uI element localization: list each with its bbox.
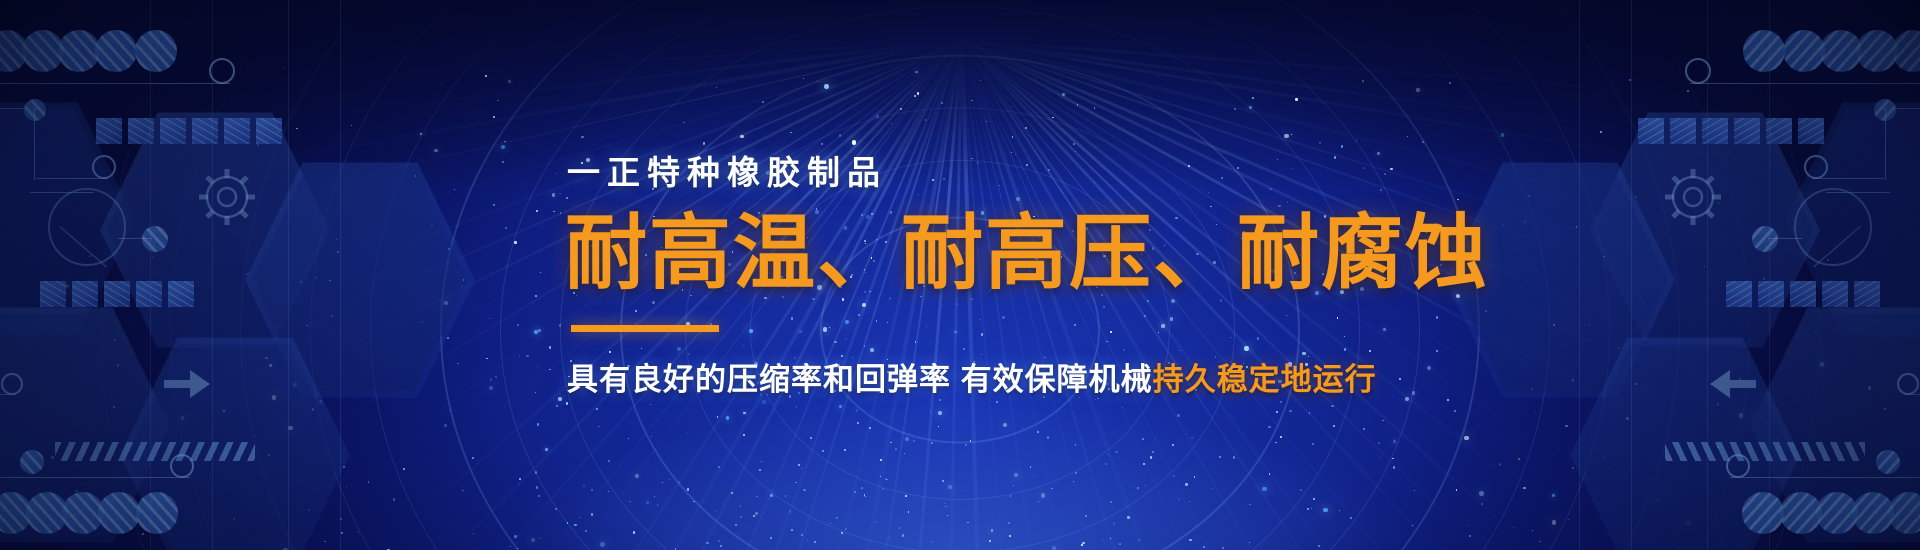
brand-tagline: 一正特种橡胶制品: [567, 156, 887, 189]
hero-copy-block: 一正特种橡胶制品 耐高温、耐高压、耐腐蚀 具有良好的压缩率和回弹率 有效保障机械…: [0, 0, 1920, 550]
subtitle-accent-part: 持久稳定地运行: [1153, 362, 1377, 397]
subtitle-white-part: 具有良好的压缩率和回弹率 有效保障机械: [567, 362, 1153, 397]
hero-banner: 一正特种橡胶制品 耐高温、耐高压、耐腐蚀 具有良好的压缩率和回弹率 有效保障机械…: [0, 0, 1920, 550]
accent-divider: [571, 325, 719, 332]
hero-subtitle: 具有良好的压缩率和回弹率 有效保障机械持久稳定地运行: [567, 364, 1377, 395]
page-title: 耐高温、耐高压、耐腐蚀: [565, 213, 1489, 295]
